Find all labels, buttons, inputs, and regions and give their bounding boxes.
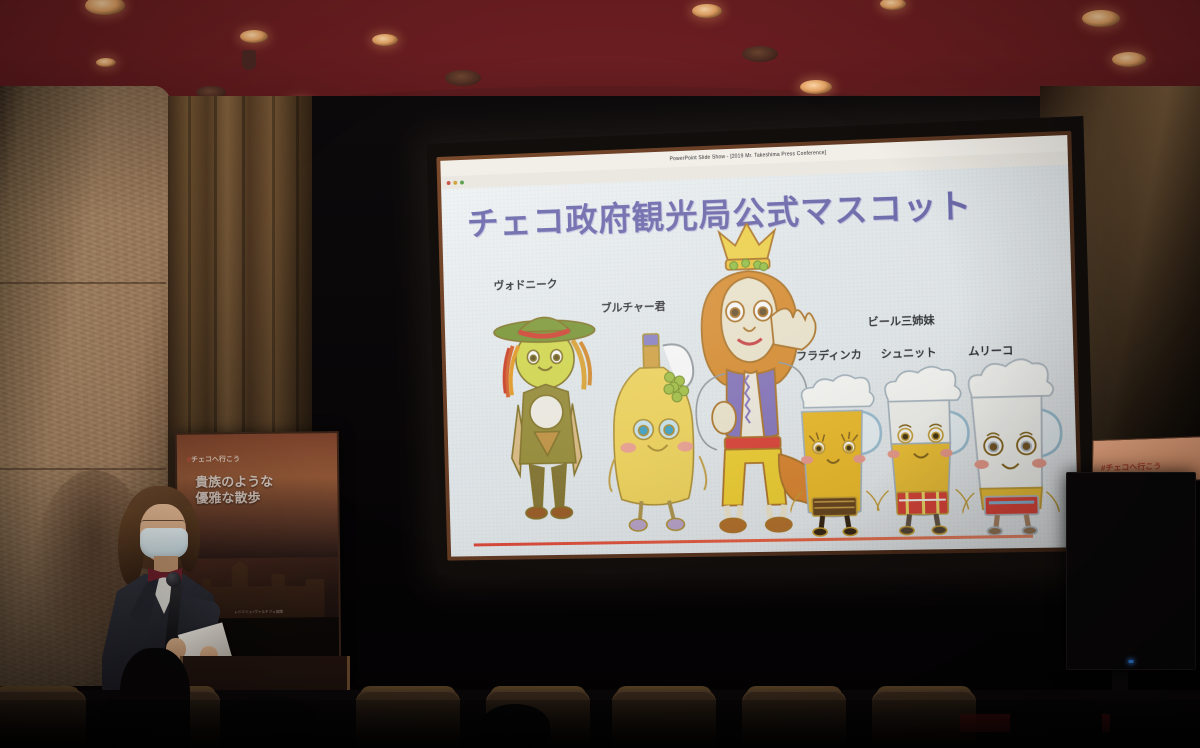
downlight-icon — [1112, 52, 1146, 67]
projection-screen: PowerPoint Slide Show - [2019 Mr. Takesh… — [424, 130, 1084, 570]
downlight-icon — [372, 34, 398, 46]
downlight-icon — [96, 58, 116, 67]
face-mask — [140, 528, 188, 558]
photo-scene: PowerPoint Slide Show - [2019 Mr. Takesh… — [0, 0, 1200, 748]
mascot-group-label: ビール三姉妹 — [867, 312, 934, 330]
mascot-label-burcak: ブルチャー君 — [601, 298, 666, 316]
screen-bezel: PowerPoint Slide Show - [2019 Mr. Takesh… — [436, 131, 1083, 561]
foreground-shadow — [0, 700, 1200, 748]
screen-surface: PowerPoint Slide Show - [2019 Mr. Takesh… — [440, 135, 1079, 557]
slide-hashtag: #チェコへ行こう — [476, 552, 571, 557]
mascot-label-vodnik: ヴォドニーク — [493, 276, 557, 294]
close-dot-icon[interactable] — [447, 181, 451, 185]
downlight-icon — [445, 70, 481, 86]
downlight-icon — [692, 4, 722, 18]
downlight-icon — [742, 46, 778, 62]
downlight-icon — [800, 80, 832, 94]
slide-hashtag-link: チェコ — [483, 556, 521, 557]
screen-frame: PowerPoint Slide Show - [2019 Mr. Takesh… — [426, 116, 1096, 574]
power-led-icon — [1129, 660, 1134, 663]
downlight-icon — [240, 30, 268, 43]
stage-monitor — [1066, 472, 1196, 670]
ceiling-fitting-icon — [242, 50, 256, 70]
beer-mug-mascot-3 — [958, 352, 1074, 535]
window-title-text: PowerPoint Slide Show - [2019 Mr. Takesh… — [670, 150, 827, 163]
vodnik-mascot — [486, 300, 607, 537]
microphone-icon — [166, 572, 181, 587]
slide-canvas: チェコ政府観光局公式マスコット ヴォドニーク ブルチャー君 ビール三姉妹 フラデ… — [441, 165, 1079, 557]
zoom-dot-icon[interactable] — [460, 180, 464, 184]
glasses-icon — [141, 520, 185, 528]
minimize-dot-icon[interactable] — [453, 180, 457, 184]
neck — [154, 556, 178, 572]
downlight-icon — [1082, 10, 1120, 27]
